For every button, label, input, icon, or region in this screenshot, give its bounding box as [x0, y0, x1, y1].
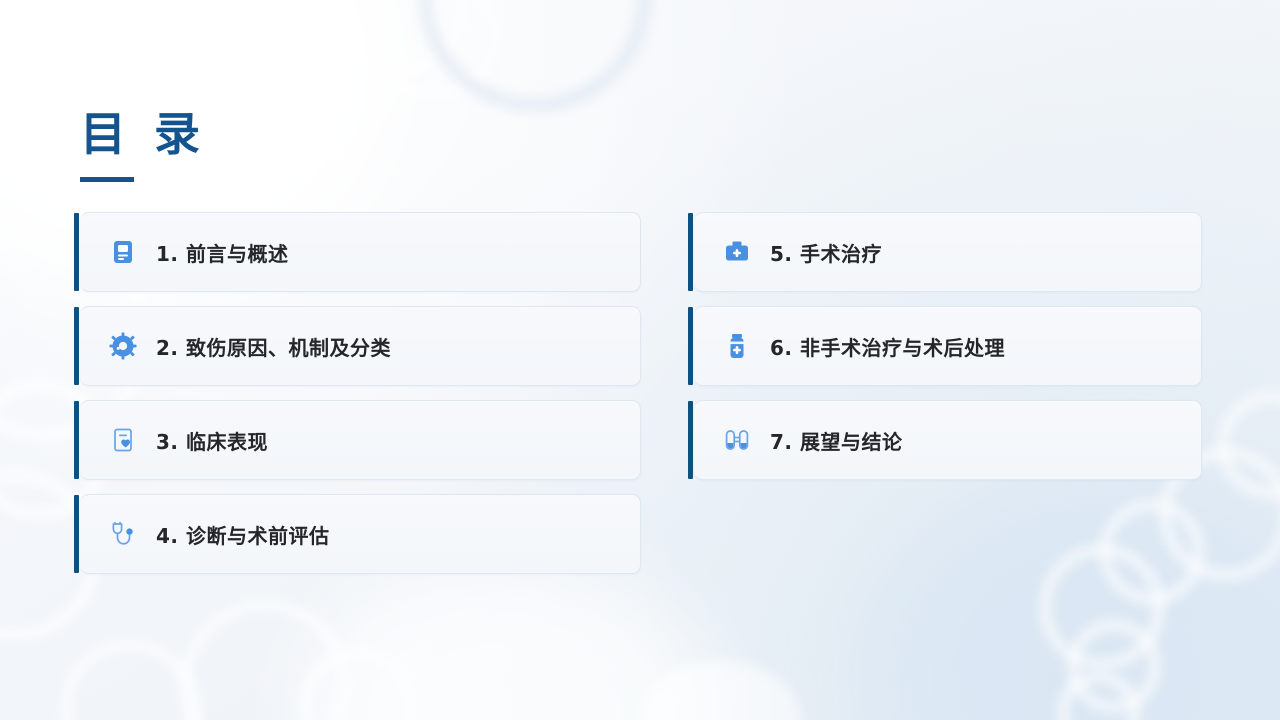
toc-column-left: 1. 前言与概述 — [80, 212, 641, 574]
toc-item-7[interactable]: 7. 展望与结论 — [694, 400, 1202, 480]
gear-icon — [106, 329, 140, 363]
toc-item-label: 5. 手术治疗 — [770, 238, 882, 267]
toc-item-5[interactable]: 5. 手术治疗 — [694, 212, 1202, 292]
toc-slide: 目 录 1. 前言与概述 — [0, 0, 1280, 720]
page-title: 目 录 — [80, 108, 206, 161]
medical-kit-icon — [720, 235, 754, 269]
toc-item-label: 1. 前言与概述 — [156, 238, 288, 267]
toc-item-4[interactable]: 4. 诊断与术前评估 — [80, 494, 641, 574]
document-book-icon — [106, 235, 140, 269]
clipboard-heart-icon — [106, 423, 140, 457]
toc-item-3[interactable]: 3. 临床表现 — [80, 400, 641, 480]
page-title-block: 目 录 — [80, 108, 206, 182]
toc-column-right: 5. 手术治疗 6. 非手术治疗与术后处理 — [694, 212, 1202, 480]
toc-item-label: 4. 诊断与术前评估 — [156, 520, 329, 549]
toc-item-label: 7. 展望与结论 — [770, 426, 902, 455]
toc-item-1[interactable]: 1. 前言与概述 — [80, 212, 641, 292]
title-underline — [80, 177, 134, 182]
toc-item-6[interactable]: 6. 非手术治疗与术后处理 — [694, 306, 1202, 386]
stethoscope-icon — [106, 517, 140, 551]
toc-item-2[interactable]: 2. 致伤原因、机制及分类 — [80, 306, 641, 386]
toc-item-label: 6. 非手术治疗与术后处理 — [770, 332, 1005, 361]
binoculars-icon — [720, 423, 754, 457]
toc-item-label: 3. 临床表现 — [156, 426, 268, 455]
toc-item-label: 2. 致伤原因、机制及分类 — [156, 332, 391, 361]
medicine-bottle-icon — [720, 329, 754, 363]
